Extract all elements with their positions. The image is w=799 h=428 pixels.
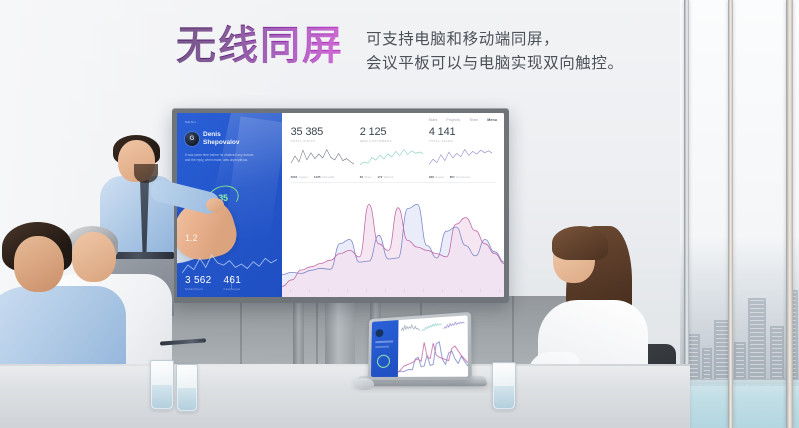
kpi-card-total-sales[interactable]: 4 141 TOTAL SALES 938Repeat 851New buyer… <box>429 126 498 179</box>
kpi-label: NEW CUSTOMERS <box>360 139 429 143</box>
kpi-tags: 84Direct 172Referral <box>360 175 429 179</box>
kpi-tag: 1035Paid traffic <box>314 175 334 179</box>
kpi-value: 2 125 <box>360 126 429 138</box>
display-stand-leg <box>293 303 304 369</box>
quote-line-1: It was some time before he <box>185 153 223 157</box>
water-glass-center <box>176 364 198 412</box>
office-window-wall <box>680 0 799 428</box>
mouse[interactable] <box>354 378 374 390</box>
nav-item-projects[interactable]: Projects <box>446 118 460 122</box>
main-area-chart[interactable] <box>282 189 504 297</box>
headline-block: 无线同屏 可支持电脑和移动端同屏， 会议平板可以与电脑实现双向触控。 <box>176 24 624 76</box>
sidebar-metric: 1.2 <box>185 233 198 243</box>
kpi-row: 35 385 TOTAL VISITS 2964Organic 1035Paid… <box>282 122 504 179</box>
kpi-value: 35 385 <box>291 126 360 138</box>
kpi-tag: 2964Organic <box>291 175 308 179</box>
sidebar-stat-1: 461 Campaigns <box>224 275 242 291</box>
kpi-tag: 84Direct <box>360 175 372 179</box>
laptop-dashboard-sidebar <box>371 320 399 377</box>
water-glass-left <box>150 360 174 410</box>
kpi-tag: 938Repeat <box>429 175 444 179</box>
page-subtitle: 可支持电脑和移动端同屏， 会议平板可以与电脑实现双向触控。 <box>366 28 624 76</box>
display-screen[interactable]: MENU G Denis Shepovalov It was some time… <box>177 113 504 297</box>
window-mullion <box>786 0 793 428</box>
kpi-value: 4 141 <box>429 126 498 138</box>
kpi-card-new-customers[interactable]: 2 125 NEW CUSTOMERS 84Direct 172Referral <box>360 126 429 179</box>
nav-item-team[interactable]: Team <box>469 118 478 122</box>
kpi-tag: 172Referral <box>377 175 393 179</box>
sidebar-quote: It was some time before he obtained any … <box>185 153 259 162</box>
kpi-tags: 2964Organic 1035Paid traffic <box>291 175 360 179</box>
stat-value: 3 562 <box>185 275 212 286</box>
sidebar-stat-0: 3 562 Subscribers <box>185 275 212 291</box>
kpi-tag: 851New buyers <box>450 175 470 179</box>
floor-reflection <box>680 380 799 428</box>
wall-panel <box>120 296 590 368</box>
page-title: 无线同屏 <box>176 24 344 68</box>
kpi-sparkline <box>429 147 493 167</box>
conference-table <box>0 366 690 428</box>
water-glass-right <box>492 362 516 410</box>
kpi-sparkline <box>291 147 355 167</box>
laptop-dashboard-main <box>398 315 468 377</box>
user-name-first: Denis <box>203 131 239 139</box>
quote-line-3: when made, was unpropitious. <box>205 158 248 162</box>
user-name-last: Shepovalov <box>203 139 239 147</box>
laptop-screen[interactable] <box>371 315 468 377</box>
subtitle-line-1: 可支持电脑和移动端同屏， <box>366 28 624 52</box>
avatar: G <box>185 132 199 146</box>
stat-label: Campaigns <box>224 287 242 291</box>
kpi-label: TOTAL VISITS <box>291 139 360 143</box>
window-mullion <box>728 0 733 428</box>
stat-value: 461 <box>224 275 242 286</box>
chart-x-axis-ticks <box>290 289 500 293</box>
kpi-card-total-visits[interactable]: 35 385 TOTAL VISITS 2964Organic 1035Paid… <box>291 126 360 179</box>
laptop-lid <box>368 312 472 380</box>
subtitle-line-2: 会议平板可以与电脑实现双向触控。 <box>366 52 624 76</box>
sidebar-top-label: MENU <box>185 120 275 124</box>
divider <box>291 182 496 183</box>
dashboard-nav[interactable]: Stats Projects Team Menu <box>282 113 504 122</box>
stat-label: Subscribers <box>185 287 212 291</box>
display-stand-column <box>325 303 355 369</box>
city-skyline <box>680 236 799 386</box>
nav-item-menu[interactable]: Menu <box>487 118 497 122</box>
kpi-label: TOTAL SALES <box>429 139 498 143</box>
sidebar-sparkline <box>182 253 277 275</box>
dashboard-main: Stats Projects Team Menu 35 385 TOTAL VI… <box>282 113 504 297</box>
kpi-sparkline <box>360 147 424 167</box>
nav-item-stats[interactable]: Stats <box>429 118 438 122</box>
kpi-tags: 938Repeat 851New buyers <box>429 175 498 179</box>
sidebar-stats: 3 562 Subscribers 461 Campaigns <box>185 275 241 291</box>
